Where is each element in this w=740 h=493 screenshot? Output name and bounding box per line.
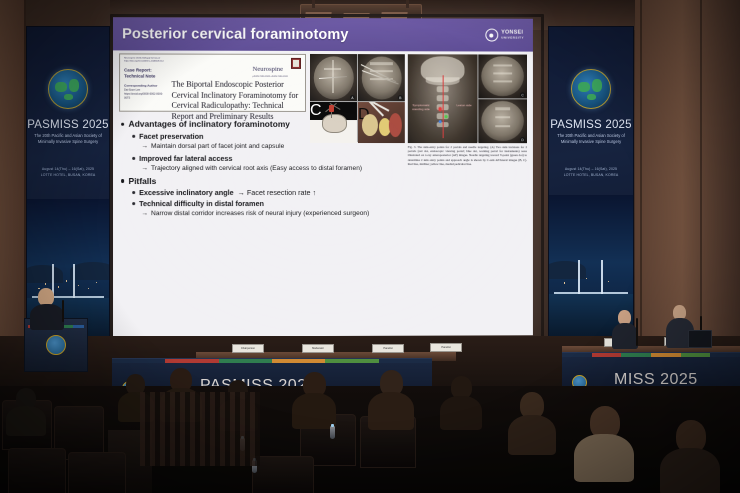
xray-label-right: Lesion side xyxy=(454,104,475,108)
journal-doi-line: Neurospine 2024;21(Suppl 1):trial-ctr ht… xyxy=(124,57,167,64)
arrow-icon: → xyxy=(141,143,148,150)
bullet-item: Excessive inclinatory angle → Facet rese… xyxy=(132,188,398,197)
bullet-item: → Maintain dorsal part of facet joint an… xyxy=(141,142,398,150)
globe-emblem-icon xyxy=(571,69,611,109)
nameplate-text: Panelist xyxy=(441,346,450,349)
nameplate: Panelist xyxy=(372,344,404,353)
panel-tag: B xyxy=(398,95,403,100)
nameplate-text: Panelist xyxy=(383,347,392,350)
article-title: The Biportal Endoscopic Posterior Cervic… xyxy=(171,80,300,122)
carm-ap-view: C xyxy=(478,54,527,98)
bullet-dot-icon xyxy=(132,202,135,205)
journal-logo-icon xyxy=(291,58,301,69)
nameplate-text: Moderator xyxy=(312,347,324,350)
panel-tag: D xyxy=(520,137,525,142)
color-stripe-bar xyxy=(562,353,740,357)
bullet-dot-icon xyxy=(132,134,135,137)
banner-meta: August 14(Thu) – 16(Sat), 2025 LOTTE HOT… xyxy=(31,167,105,178)
audience-person xyxy=(292,372,336,424)
bullet-text: Advantages of inclinatory foraminotomy xyxy=(129,119,290,129)
bullet-dot-icon xyxy=(121,122,124,125)
arrow-icon: → xyxy=(141,166,148,173)
bullet-item: Facet preservation xyxy=(132,131,398,140)
bullet-text: Pitfalls xyxy=(129,176,157,186)
stage-curtain xyxy=(140,392,260,466)
banner-subtitle: The 20th Pacific and Asian Society of Mi… xyxy=(31,133,105,145)
cervical-ap-xray: Symptomatic standing side Lesion side xyxy=(408,54,477,143)
bullet-item: Technical difficulty in distal foramen xyxy=(132,199,398,208)
audience-area xyxy=(0,386,740,493)
yonsei-subtitle: UNIVERSITY xyxy=(501,36,524,39)
nameplate: Moderator xyxy=(302,344,334,353)
banner-title-bold: PASMISS xyxy=(27,119,79,131)
audience-person xyxy=(574,406,634,476)
banner-subtitle: The 20th Pacific and Asian Society of Mi… xyxy=(553,133,629,145)
bullet-text: Technical difficulty in distal foramen xyxy=(139,199,264,208)
color-stripe-bar xyxy=(112,359,432,363)
yonsei-university-logo: YONSEI UNIVERSITY xyxy=(485,29,524,42)
cervical-xray-grid: Symptomatic standing side Lesion side C xyxy=(408,54,527,142)
projection-screen: Posterior cervical foraminotomy YONSEI U… xyxy=(113,17,533,337)
banner-title: PASMISS 2025 xyxy=(27,119,109,131)
bullet-dot-icon xyxy=(132,157,135,160)
banner-date: August 14(Thu) – 16(Sat), 2025 xyxy=(31,167,105,173)
banner-title-bold: PASMISS xyxy=(550,119,602,131)
slide-bullet-list: Advantages of inclinatory foraminotomy F… xyxy=(121,119,398,222)
bullet-text: Narrow distal corridor increases risk of… xyxy=(151,210,369,217)
journal-article-card: Neurospine 2024;21(Suppl 1):trial-ctr ht… xyxy=(119,53,306,112)
panel-tag: A xyxy=(350,95,355,100)
yonsei-seal-icon xyxy=(485,29,498,42)
journal-citation: Neurospine 2024;21(Suppl 1):trial-ctr xyxy=(124,57,160,59)
microphone-icon xyxy=(636,318,638,346)
journal-masthead: Neurospine pISSN 2586-6583 eISSN 2586-65… xyxy=(171,58,300,78)
bullet-item: Improved far lateral access xyxy=(132,153,398,162)
water-bottle xyxy=(330,426,335,439)
bullet-item: Advantages of inclinatory foraminotomy xyxy=(121,119,398,129)
yonsei-wordmark: YONSEI UNIVERSITY xyxy=(501,31,524,40)
journal-left-column: Neurospine 2024;21(Suppl 1):trial-ctr ht… xyxy=(124,57,167,107)
journal-right-column: Neurospine pISSN 2586-6583 eISSN 2586-65… xyxy=(171,58,300,108)
slide-body: Neurospine 2024;21(Suppl 1):trial-ctr ht… xyxy=(113,50,533,336)
panel-tag: C xyxy=(520,92,525,97)
bullet-item: Pitfalls xyxy=(121,176,398,186)
journal-name: Neurospine xyxy=(253,66,283,73)
xray-label-left: Symptomatic standing side xyxy=(410,104,432,112)
bullet-text: Facet preservation xyxy=(139,131,203,140)
microphone-icon xyxy=(62,300,64,322)
presentation-slide: Posterior cervical foraminotomy YONSEI U… xyxy=(113,17,533,337)
bullet-text: Excessive inclinatory angle xyxy=(139,188,233,197)
bullet-text: Trajectory aligned with cervical root ax… xyxy=(151,165,362,172)
banner-meta: August 14(Thu) – 16(Sat), 2025 LOTTE HOT… xyxy=(553,167,629,178)
audience-person xyxy=(660,420,720,490)
journal-doi: https://doi.org/10.14245/ns.2448228.114 xyxy=(124,61,163,63)
truss-pole xyxy=(312,0,315,8)
banner-right: PASMISS 2025 The 20th Pacific and Asian … xyxy=(548,26,634,346)
banner-venue: LOTTE HOTEL, BUSAN, KOREA xyxy=(31,173,105,179)
bullet-dot-icon xyxy=(121,179,124,182)
banner-title-year: 2025 xyxy=(82,119,108,131)
slide-title-bar: Posterior cervical foraminotomy YONSEI U… xyxy=(113,17,533,51)
podium-speaker xyxy=(30,288,64,328)
fluoroscopy-image-a: A xyxy=(310,54,357,101)
globe-emblem-icon xyxy=(46,335,66,355)
banner-venue: LOTTE HOTEL, BUSAN, KOREA xyxy=(553,173,629,179)
nameplate-text: Chairperson xyxy=(241,347,255,350)
audience-chair xyxy=(252,456,314,493)
audience-chair xyxy=(8,448,66,493)
carm-lateral-view: D xyxy=(478,99,527,143)
figure-caption: Fig. 3. The skin-entry points for 2 port… xyxy=(408,145,527,166)
journal-type-1: Case Report: xyxy=(124,67,167,72)
journal-type-2: Technical Note xyxy=(124,73,167,78)
banner-title: PASMISS 2025 xyxy=(549,119,633,131)
bullet-dot-icon xyxy=(132,191,135,194)
nameplate: Chairperson xyxy=(232,344,264,353)
bullet-item: → Trajectory aligned with cervical root … xyxy=(141,165,398,173)
audience-chair xyxy=(68,452,126,493)
bullet-suffix: → Facet resection rate ↑ xyxy=(238,188,316,197)
globe-emblem-icon xyxy=(48,69,88,109)
bullet-text: Improved far lateral access xyxy=(139,153,232,162)
bullet-text: Maintain dorsal part of facet joint and … xyxy=(151,142,284,149)
slide-title: Posterior cervical foraminotomy xyxy=(122,26,348,43)
laptop-screen xyxy=(688,330,712,348)
conference-hall-scene: Posterior cervical foraminotomy YONSEI U… xyxy=(0,0,740,493)
audience-person xyxy=(508,392,556,448)
banner-title-year: 2025 xyxy=(605,119,631,131)
corresponding-author-link: https://orcid.org/0000-0002-0000-0073 xyxy=(124,92,167,100)
bullet-item: → Narrow distal corridor increases risk … xyxy=(141,210,398,218)
arrow-icon: → xyxy=(141,211,148,218)
audience-person xyxy=(440,376,482,426)
fluoroscopy-image-b: B xyxy=(358,54,405,101)
truss-pole xyxy=(406,0,409,8)
journal-issn: pISSN 2586-6583 eISSN 2586-6591 xyxy=(253,76,288,78)
audience-person xyxy=(368,370,414,424)
nameplate: Panelist xyxy=(430,343,462,352)
panelist-person xyxy=(612,310,638,348)
audience-person xyxy=(6,388,46,432)
